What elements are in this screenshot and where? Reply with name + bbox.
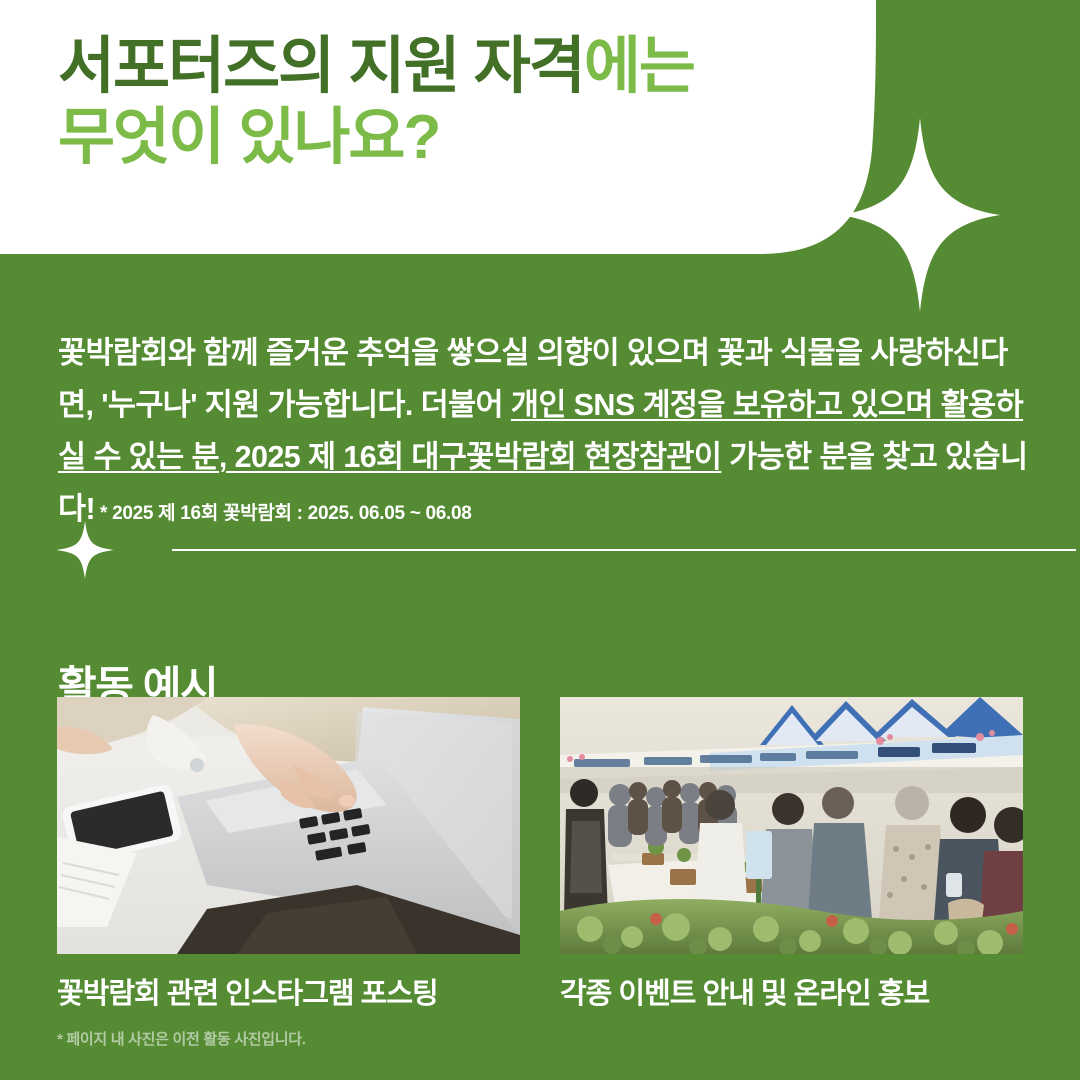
page-title-line2: 무엇이 있나요? — [58, 103, 439, 172]
photo-flower-expo-crowd — [560, 697, 1023, 954]
page-title: 서포터즈의 지원 자격에는 무엇이 있나요? — [58, 34, 694, 172]
page-footnote: * 페이지 내 사진은 이전 활동 사진입니다. — [57, 1028, 306, 1049]
photo-caption-left: 꽃박람회 관련 인스타그램 포스팅 — [57, 970, 520, 1012]
photo-captions: 꽃박람회 관련 인스타그램 포스팅 각종 이벤트 안내 및 온라인 홍보 — [57, 970, 1023, 1012]
laptop-typing-illustration — [57, 697, 520, 954]
body-paragraph: 꽃박람회와 함께 즐거운 추억을 쌓으실 의향이 있으며 꽃과 식물을 사랑하신… — [58, 327, 1028, 540]
page-title-line1-dark: 서포터즈의 지원 자격 — [58, 32, 584, 101]
supporters-qualification-card: 서포터즈의 지원 자격에는 무엇이 있나요? 꽃박람회와 함께 즐거운 추억을 … — [0, 0, 1080, 1080]
flower-expo-illustration — [560, 697, 1023, 954]
photo-grid — [57, 697, 1023, 954]
sparkle-icon — [56, 521, 114, 579]
page-title-line1-light: 에는 — [584, 32, 694, 101]
divider-line — [172, 549, 1076, 551]
divider — [56, 521, 1024, 579]
header: 서포터즈의 지원 자격에는 무엇이 있나요? — [0, 0, 1080, 254]
photo-caption-right: 각종 이벤트 안내 및 온라인 홍보 — [560, 970, 1023, 1012]
photo-laptop-typing — [57, 697, 520, 954]
